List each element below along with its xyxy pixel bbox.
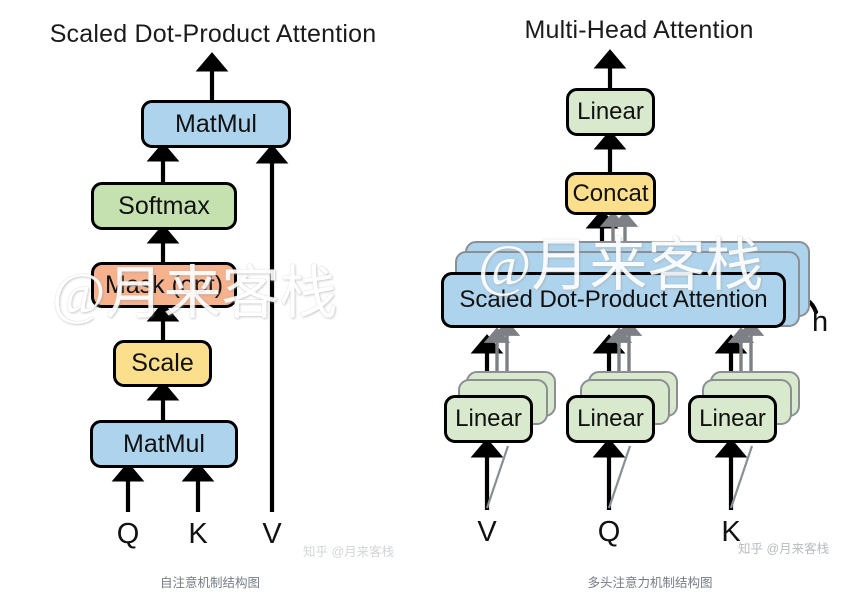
input-label-k: K	[178, 518, 218, 551]
node-label: Concat	[572, 182, 648, 206]
io-text: K	[188, 518, 207, 550]
node-label: Scaled Dot-Product Attention	[459, 288, 767, 312]
io-text: V	[262, 518, 281, 550]
node-matmul-top[interactable]: MatMul	[141, 100, 291, 148]
node-linear-output[interactable]: Linear	[566, 88, 655, 136]
caption-right: 多头注意力机制结构图	[500, 572, 800, 591]
node-label: Mask (opt)	[105, 273, 223, 298]
node-mask[interactable]: Mask (opt)	[91, 262, 237, 308]
io-text: V	[477, 516, 496, 548]
io-text: Q	[598, 516, 621, 548]
node-linear-q[interactable]: Linear	[566, 395, 655, 443]
input-label-v: V	[252, 518, 292, 551]
node-label: MatMul	[123, 432, 205, 457]
panel-scaled-dot-product-attention: Scaled Dot-Product Attention MatMul Soft…	[0, 0, 426, 610]
node-label: Linear	[577, 407, 644, 431]
node-label: MatMul	[175, 112, 257, 137]
page-title-left: Scaled Dot-Product Attention	[0, 20, 426, 49]
node-label: Linear	[455, 407, 522, 431]
node-softmax[interactable]: Softmax	[91, 182, 237, 230]
node-linear-v[interactable]: Linear	[444, 395, 533, 443]
node-concat[interactable]: Concat	[565, 172, 656, 215]
head-count-label: h	[812, 306, 828, 339]
node-scale[interactable]: Scale	[113, 340, 212, 387]
caption-left: 自注意机制结构图	[60, 572, 360, 591]
io-text: Q	[117, 518, 140, 550]
node-linear-k[interactable]: Linear	[688, 395, 777, 443]
node-scaled-dot-product-attention[interactable]: Scaled Dot-Product Attention	[441, 272, 786, 328]
page-title-right: Multi-Head Attention	[426, 16, 852, 45]
node-matmul-bottom[interactable]: MatMul	[90, 420, 238, 468]
input-label-q-right: Q	[589, 516, 629, 549]
node-label: Softmax	[118, 194, 210, 219]
node-label: Linear	[699, 407, 766, 431]
node-label: Linear	[577, 100, 644, 124]
input-label-v-right: V	[467, 516, 507, 549]
node-label: Scale	[131, 351, 194, 376]
input-label-q: Q	[108, 518, 148, 551]
input-label-k-right: K	[711, 516, 751, 549]
io-text: K	[721, 516, 740, 548]
diagram-canvas: Scaled Dot-Product Attention MatMul Soft…	[0, 0, 852, 610]
